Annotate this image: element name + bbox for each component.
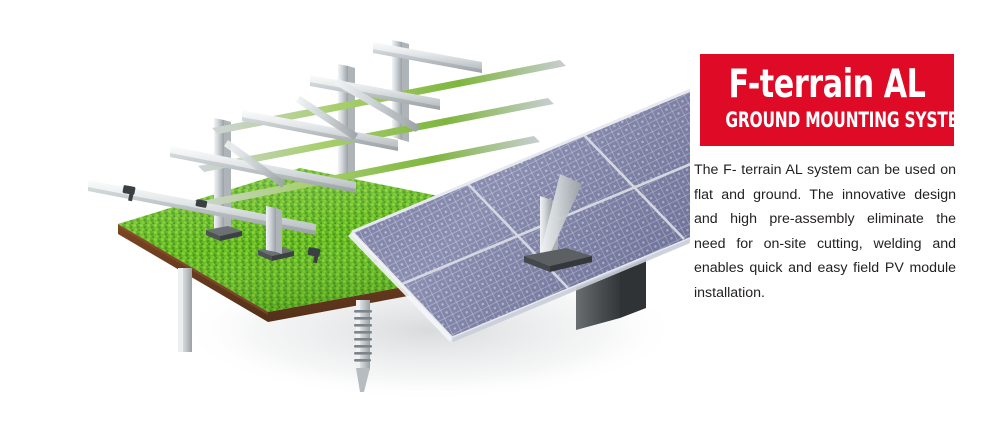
mounting-rail-5 bbox=[373, 42, 482, 73]
solar-mount-3d-render bbox=[0, 0, 690, 448]
product-banner: F-terrain AL GROUND MOUNTING SYSTEM bbox=[700, 54, 954, 146]
product-description-text: The F- terrain AL system can be used on … bbox=[694, 158, 956, 305]
product-description: The F- terrain AL system can be used on … bbox=[694, 158, 956, 305]
product-illustration bbox=[0, 0, 690, 448]
support-leg-front-left bbox=[178, 268, 192, 352]
product-subtitle: GROUND MOUNTING SYSTEM bbox=[725, 108, 928, 134]
info-panel: F-terrain AL GROUND MOUNTING SYSTEM The … bbox=[688, 0, 1000, 448]
support-post-front-left bbox=[266, 206, 282, 254]
product-title: F-terrain AL bbox=[718, 60, 936, 110]
